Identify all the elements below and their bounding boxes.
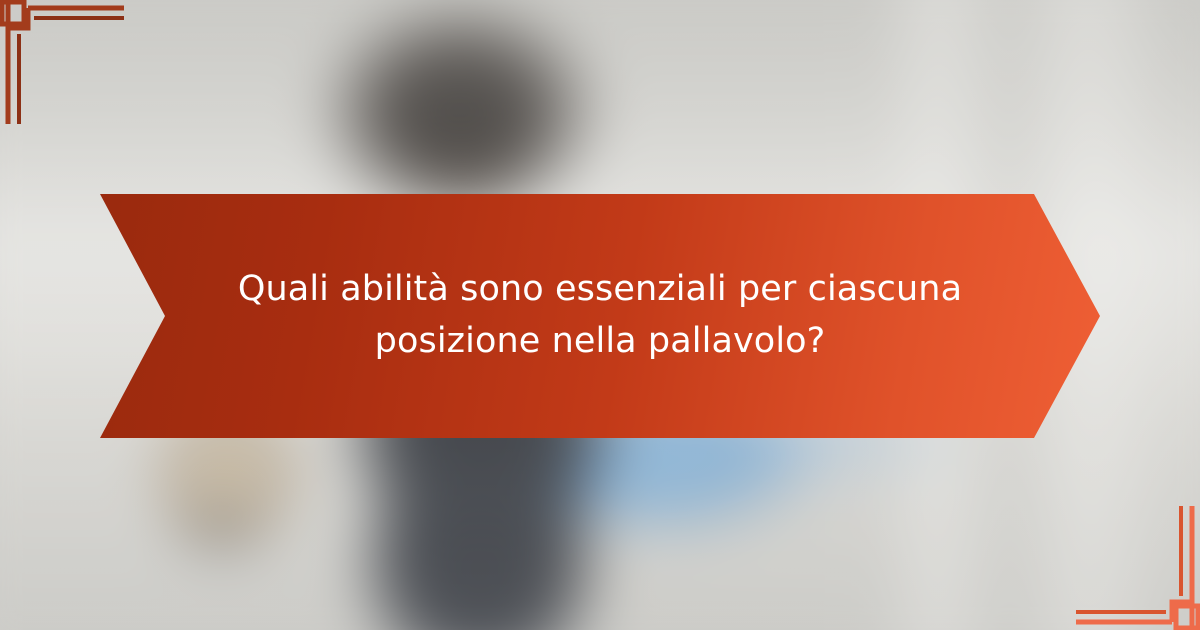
banner-question-line-2: posizione nella pallavolo? — [375, 316, 826, 368]
title-banner: Quali abilità sono essenziali per ciascu… — [100, 194, 1100, 438]
banner-question-line-1: Quali abilità sono essenziali per ciascu… — [238, 264, 962, 316]
banner-text-block: Quali abilità sono essenziali per ciascu… — [100, 194, 1100, 438]
share-card-canvas: Quali abilità sono essenziali per ciascu… — [0, 0, 1200, 630]
